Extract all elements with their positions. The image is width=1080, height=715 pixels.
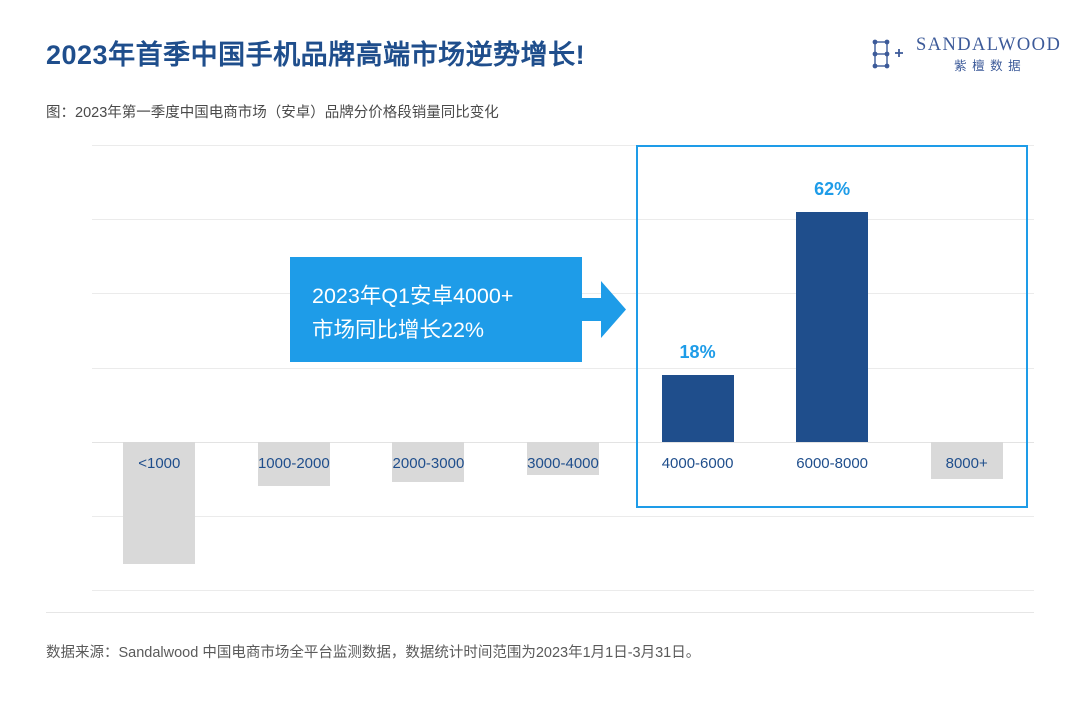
gridline	[92, 219, 1034, 220]
bar-4000-6000[interactable]	[662, 375, 734, 442]
x-tick-label-6000-8000: 6000-8000	[762, 455, 902, 472]
logo-text: SANDALWOOD 紫檀数据	[916, 33, 1061, 75]
callout-annotation: 2023年Q1安卓4000+ 市场同比增长22%	[290, 257, 626, 362]
x-tick-label-8000+: 8000+	[897, 455, 1037, 472]
node-graph-icon	[866, 35, 910, 77]
gridline	[92, 590, 1034, 591]
bar-6000-8000[interactable]	[796, 212, 868, 442]
logo-name-cn: 紫檀数据	[916, 57, 1061, 75]
gridline	[92, 368, 1034, 369]
chart-subtitle: 图：2023年第一季度中国电商市场（安卓）品牌分价格段销量同比变化	[46, 101, 499, 122]
callout-text: 2023年Q1安卓4000+ 市场同比增长22%	[312, 279, 574, 347]
bar-value-label: 18%	[638, 342, 758, 363]
footer-divider	[46, 612, 1034, 613]
logo-name: SANDALWOOD	[916, 33, 1061, 57]
x-tick-label-<1000: <1000	[89, 455, 229, 472]
x-tick-label-3000-4000: 3000-4000	[493, 455, 633, 472]
gridline	[92, 145, 1034, 146]
source-note: 数据来源：Sandalwood 中国电商市场全平台监测数据，数据统计时间范围为2…	[46, 641, 700, 662]
sandalwood-logo: SANDALWOOD 紫檀数据	[866, 33, 1044, 81]
x-tick-label-1000-2000: 1000-2000	[224, 455, 364, 472]
x-tick-label-2000-3000: 2000-3000	[358, 455, 498, 472]
arrow-right-icon	[575, 281, 626, 338]
x-tick-label-4000-6000: 4000-6000	[628, 455, 768, 472]
gridline	[92, 516, 1034, 517]
callout-line-1: 2023年Q1安卓4000+	[312, 279, 574, 313]
callout-line-2: 市场同比增长22%	[312, 313, 574, 347]
page-title: 2023年首季中国手机品牌高端市场逆势增长!	[46, 33, 585, 72]
chart-plot-area: 80%60%40%20%0%-20%-40% 18%62% <10001000-…	[92, 145, 1034, 590]
bar-value-label: 62%	[772, 179, 892, 200]
